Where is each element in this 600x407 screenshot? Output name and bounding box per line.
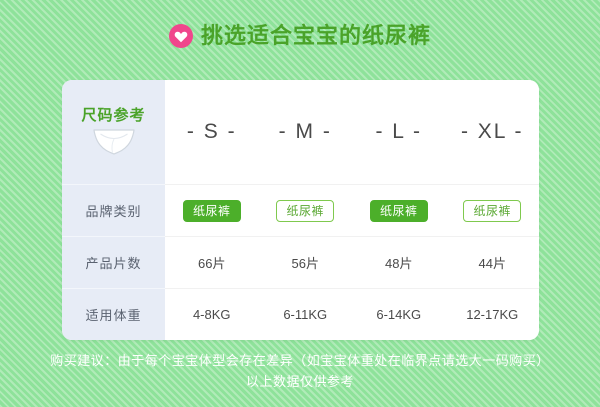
row-label: 品牌类别 (62, 184, 165, 236)
page-title: 挑选适合宝宝的纸尿裤 (0, 18, 600, 54)
table-cell: 纸尿裤 (259, 200, 353, 222)
size-header-row: - S - - M - - L - - XL - (165, 80, 539, 184)
size-header-s: - S - (165, 120, 259, 144)
size-header-l: - L - (352, 120, 446, 144)
size-header-m: - M - (259, 120, 353, 144)
table-cell: 56片 (259, 253, 353, 272)
diaper-icon (91, 127, 137, 157)
row-label: 产品片数 (62, 236, 165, 288)
table-cell: 6-14KG (352, 307, 446, 322)
table-cell: 纸尿裤 (352, 200, 446, 222)
table-row: 纸尿裤 纸尿裤 纸尿裤 纸尿裤 (165, 184, 539, 236)
row-label-column: 尺码参考 品牌类别 产品片数 适用体重 (62, 80, 165, 340)
table-row: 66片 56片 48片 44片 (165, 236, 539, 288)
table-cell: 48片 (352, 253, 446, 272)
table-cell: 4-8KG (165, 307, 259, 322)
size-reference-label: 尺码参考 (81, 108, 145, 123)
table-cell: 纸尿裤 (446, 200, 540, 222)
table-cell: 66片 (165, 253, 259, 272)
table-row: 4-8KG 6-11KG 6-14KG 12-17KG (165, 288, 539, 340)
footer-line-1: 购买建议：由于每个宝宝体型会存在差异（如宝宝体重处在临界点请选大一码购买） (0, 350, 600, 371)
footer-note: 购买建议：由于每个宝宝体型会存在差异（如宝宝体重处在临界点请选大一码购买） 以上… (0, 350, 600, 392)
category-badge[interactable]: 纸尿裤 (370, 200, 428, 222)
footer-line-2: 以上数据仅供参考 (0, 371, 600, 392)
table-cell: 12-17KG (446, 307, 540, 322)
page-root: 挑选适合宝宝的纸尿裤 尺码参考 品牌类别 产品片数 (0, 0, 600, 407)
size-chart-card: 尺码参考 品牌类别 产品片数 适用体重 - S - (62, 80, 539, 340)
heart-icon (169, 24, 193, 48)
size-header-xl: - XL - (446, 120, 540, 144)
page-title-text: 挑选适合宝宝的纸尿裤 (201, 25, 431, 47)
table-cell: 纸尿裤 (165, 200, 259, 222)
row-label: 适用体重 (62, 288, 165, 340)
table-cell: 6-11KG (259, 307, 353, 322)
category-badge[interactable]: 纸尿裤 (183, 200, 241, 222)
category-badge[interactable]: 纸尿裤 (463, 200, 521, 222)
size-reference-header: 尺码参考 (62, 80, 165, 184)
table-cell: 44片 (446, 253, 540, 272)
category-badge[interactable]: 纸尿裤 (276, 200, 334, 222)
data-area: - S - - M - - L - - XL - 纸尿裤 纸尿裤 纸尿裤 (165, 80, 539, 340)
